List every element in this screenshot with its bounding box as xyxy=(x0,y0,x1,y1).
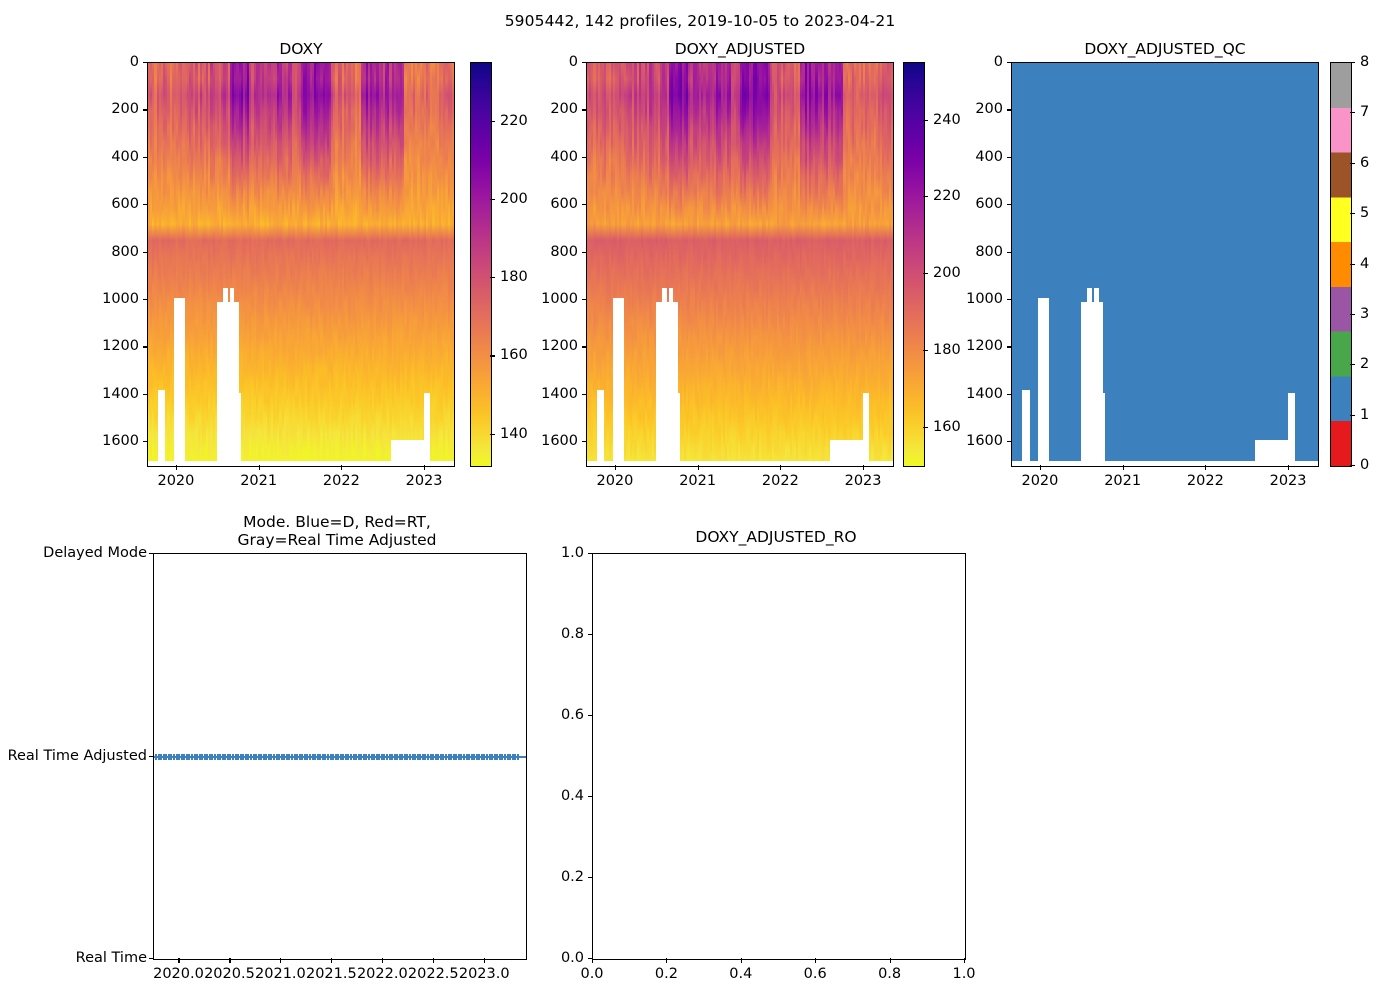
doxy-adjusted-ro-y-tick-label: 0.6 xyxy=(538,707,584,723)
doxy-adjusted-ro-x-tick-mark xyxy=(890,958,891,963)
mode-x-tick-label: 2020.0 xyxy=(153,966,204,982)
doxy-adjusted-y-tick-label: 800 xyxy=(532,244,578,260)
doxy-adjusted-qc-colorbar-tick-mark xyxy=(1350,163,1355,164)
doxy-adjusted-y-tick-mark xyxy=(582,252,587,253)
doxy-y-tick-label: 1600 xyxy=(93,433,139,449)
doxy-colorbar-tick-mark xyxy=(490,199,495,200)
doxy-adjusted-qc-colorbar-tick-mark xyxy=(1350,112,1355,113)
doxy-x-tick-label: 2020 xyxy=(157,473,194,489)
doxy-adjusted-ro-x-tick-label: 0.2 xyxy=(655,966,678,982)
doxy-adjusted-qc-x-tick-mark xyxy=(1288,465,1289,470)
doxy-adjusted-qc-y-tick-label: 800 xyxy=(957,244,1003,260)
doxy-adjusted-colorbar-tick-mark xyxy=(923,427,928,428)
doxy-adjusted-ro-y-tick-label: 0.8 xyxy=(538,626,584,642)
doxy-y-tick-mark xyxy=(143,252,148,253)
doxy-y-tick-mark xyxy=(143,204,148,205)
doxy-x-tick-label: 2022 xyxy=(323,473,360,489)
doxy-adjusted-ro-x-tick-label: 1.0 xyxy=(952,966,975,982)
mode-title-line-1: Mode. Blue=D, Red=RT, xyxy=(243,513,431,531)
doxy-y-tick-mark xyxy=(143,299,148,300)
doxy-adjusted-ro-y-tick-label: 0.4 xyxy=(538,788,584,804)
doxy-y-tick-mark xyxy=(143,346,148,347)
doxy-y-tick-mark xyxy=(143,109,148,110)
doxy-adjusted-qc-y-tick-mark xyxy=(1007,299,1012,300)
doxy-adjusted-qc-x-tick-label: 2020 xyxy=(1021,473,1058,489)
doxy-colorbar-tick-label: 180 xyxy=(500,269,548,285)
doxy-adjusted-qc-y-tick-label: 1200 xyxy=(957,338,1003,354)
mode-x-tick-mark xyxy=(178,958,179,963)
figure-canvas: 5905442, 142 profiles, 2019-10-05 to 202… xyxy=(0,0,1400,1000)
doxy-adjusted-qc-colorbar-tick-mark xyxy=(1350,465,1355,466)
doxy-adjusted-heatmap[interactable] xyxy=(586,62,894,467)
mode-x-tick-mark xyxy=(433,958,434,963)
doxy-adjusted-ro-y-tick-label: 0.0 xyxy=(538,950,584,966)
doxy-adjusted-qc-colorbar-tick-mark xyxy=(1350,364,1355,365)
missing-data-gap xyxy=(1046,298,1049,466)
doxy-adjusted-ro-plot[interactable] xyxy=(592,553,966,960)
doxy-adjusted-ro-y-tick-mark xyxy=(588,715,593,716)
doxy-x-tick-mark xyxy=(341,465,342,470)
doxy-adjusted-y-tick-label: 1400 xyxy=(532,386,578,402)
doxy-adjusted-qc-y-tick-mark xyxy=(1007,252,1012,253)
doxy-adjusted-qc-colorbar-tick-mark xyxy=(1350,314,1355,315)
doxy-adjusted-ro-panel-title: DOXY_ADJUSTED_RO xyxy=(586,528,966,546)
doxy-adjusted-qc-y-tick-label: 400 xyxy=(957,149,1003,165)
missing-data-gap xyxy=(1102,393,1105,467)
doxy-adjusted-qc-y-tick-label: 1000 xyxy=(957,291,1003,307)
doxy-adjusted-qc-y-tick-label: 0 xyxy=(957,54,1003,70)
doxy-adjusted-qc-colorbar-tick-label: 8 xyxy=(1360,54,1400,70)
doxy-adjusted-qc-colorbar-tick-label: 4 xyxy=(1360,256,1400,272)
doxy-y-tick-mark xyxy=(143,441,148,442)
doxy-adjusted-y-tick-label: 600 xyxy=(532,196,578,212)
doxy-colorbar-tick-mark xyxy=(490,277,495,278)
doxy-adjusted-ro-y-tick-label: 1.0 xyxy=(538,545,584,561)
doxy-adjusted-ro-y-tick-mark xyxy=(588,634,593,635)
doxy-adjusted-y-tick-mark xyxy=(582,441,587,442)
doxy-adjusted-y-tick-label: 1000 xyxy=(532,291,578,307)
doxy-adjusted-qc-x-tick-label: 2021 xyxy=(1104,473,1141,489)
doxy-adjusted-qc-colorbar-tick-mark xyxy=(1350,213,1355,214)
doxy-adjusted-ro-y-tick-mark xyxy=(588,877,593,878)
doxy-colorbar-tick-mark xyxy=(490,355,495,356)
mode-y-tick-label: Real Time xyxy=(0,950,147,966)
doxy-adjusted-qc-panel-title: DOXY_ADJUSTED_QC xyxy=(1011,40,1319,58)
doxy-x-tick-label: 2021 xyxy=(240,473,277,489)
doxy-adjusted-x-tick-label: 2021 xyxy=(679,473,716,489)
doxy-adjusted-y-tick-label: 400 xyxy=(532,149,578,165)
doxy-adjusted-x-tick-mark xyxy=(615,465,616,470)
doxy-y-tick-label: 200 xyxy=(93,101,139,117)
doxy-adjusted-qc-y-tick-mark xyxy=(1007,394,1012,395)
mode-x-tick-label: 2021.5 xyxy=(306,966,357,982)
missing-data-gap xyxy=(1316,461,1319,466)
doxy-adjusted-qc-heatmap[interactable] xyxy=(1011,62,1319,467)
missing-data-gap xyxy=(1292,393,1295,467)
heatmap-profile-column xyxy=(891,63,894,466)
doxy-adjusted-colorbar-tick-label: 200 xyxy=(933,265,981,281)
doxy-adjusted-y-tick-label: 1200 xyxy=(532,338,578,354)
doxy-adjusted-x-tick-label: 2023 xyxy=(845,473,882,489)
doxy-colorbar-tick-mark xyxy=(490,121,495,122)
doxy-adjusted-ro-x-tick-label: 0.8 xyxy=(878,966,901,982)
mode-x-tick-label: 2021.0 xyxy=(255,966,306,982)
doxy-adjusted-y-tick-mark xyxy=(582,394,587,395)
doxy-y-tick-label: 800 xyxy=(93,244,139,260)
doxy-adjusted-y-tick-mark xyxy=(582,62,587,63)
missing-data-gap xyxy=(452,461,455,466)
mode-x-tick-label: 2022.0 xyxy=(357,966,408,982)
doxy-adjusted-qc-y-tick-mark xyxy=(1007,62,1012,63)
mode-title-line-2: Gray=Real Time Adjusted xyxy=(237,531,436,549)
doxy-adjusted-qc-colorbar-tick-mark xyxy=(1350,415,1355,416)
doxy-y-tick-label: 400 xyxy=(93,149,139,165)
doxy-x-tick-label: 2023 xyxy=(406,473,443,489)
doxy-adjusted-y-tick-mark xyxy=(582,109,587,110)
mode-y-tick-mark xyxy=(149,958,154,959)
doxy-adjusted-qc-y-tick-label: 1600 xyxy=(957,433,1003,449)
doxy-adjusted-x-tick-mark xyxy=(780,465,781,470)
doxy-adjusted-qc-colorbar-tick-label: 6 xyxy=(1360,155,1400,171)
doxy-adjusted-ro-x-tick-mark xyxy=(815,958,816,963)
doxy-y-tick-label: 1400 xyxy=(93,386,139,402)
doxy-adjusted-qc-y-tick-mark xyxy=(1007,204,1012,205)
doxy-adjusted-qc-colorbar[interactable] xyxy=(1330,62,1352,467)
doxy-adjusted-ro-x-tick-mark xyxy=(741,958,742,963)
doxy-adjusted-colorbar[interactable] xyxy=(903,62,925,467)
doxy-y-tick-mark xyxy=(143,62,148,63)
doxy-adjusted-ro-y-tick-mark xyxy=(588,796,593,797)
doxy-adjusted-x-tick-mark xyxy=(698,465,699,470)
doxy-adjusted-y-tick-label: 0 xyxy=(532,54,578,70)
doxy-adjusted-ro-x-tick-mark xyxy=(666,958,667,963)
doxy-adjusted-y-tick-mark xyxy=(582,346,587,347)
missing-data-gap xyxy=(891,461,894,466)
doxy-adjusted-qc-x-tick-label: 2022 xyxy=(1187,473,1224,489)
doxy-y-tick-mark xyxy=(143,394,148,395)
doxy-panel-title: DOXY xyxy=(147,40,455,58)
doxy-adjusted-qc-colorbar-tick-mark xyxy=(1350,62,1355,63)
doxy-adjusted-qc-y-tick-mark xyxy=(1007,441,1012,442)
doxy-adjusted-x-tick-mark xyxy=(863,465,864,470)
doxy-heatmap[interactable] xyxy=(147,62,455,467)
mode-x-tick-label: 2022.5 xyxy=(408,966,459,982)
mode-x-tick-mark xyxy=(331,958,332,963)
doxy-adjusted-qc-x-tick-mark xyxy=(1040,465,1041,470)
doxy-adjusted-ro-y-tick-mark xyxy=(588,553,593,554)
mode-series-marker xyxy=(517,754,519,760)
doxy-adjusted-qc-y-tick-label: 200 xyxy=(957,101,1003,117)
doxy-adjusted-qc-colorbar-tick-label: 2 xyxy=(1360,356,1400,372)
doxy-x-tick-mark xyxy=(259,465,260,470)
doxy-colorbar-tick-mark xyxy=(490,434,495,435)
doxy-adjusted-qc-colorbar-tick-label: 3 xyxy=(1360,306,1400,322)
doxy-adjusted-colorbar-tick-mark xyxy=(923,273,928,274)
doxy-adjusted-qc-colorbar-tick-label: 5 xyxy=(1360,205,1400,221)
mode-y-tick-label: Delayed Mode xyxy=(0,545,147,561)
doxy-adjusted-qc-y-tick-label: 1400 xyxy=(957,386,1003,402)
doxy-y-tick-label: 600 xyxy=(93,196,139,212)
doxy-adjusted-x-tick-label: 2022 xyxy=(762,473,799,489)
doxy-y-tick-label: 1200 xyxy=(93,338,139,354)
doxy-adjusted-qc-x-tick-mark xyxy=(1205,465,1206,470)
doxy-adjusted-colorbar-tick-mark xyxy=(923,120,928,121)
doxy-adjusted-qc-colorbar-tick-mark xyxy=(1350,264,1355,265)
doxy-x-tick-mark xyxy=(176,465,177,470)
mode-x-tick-mark xyxy=(229,958,230,963)
mode-x-tick-mark xyxy=(280,958,281,963)
doxy-adjusted-qc-y-tick-mark xyxy=(1007,157,1012,158)
doxy-adjusted-colorbar-tick-mark xyxy=(923,196,928,197)
doxy-adjusted-qc-x-tick-label: 2023 xyxy=(1270,473,1307,489)
doxy-colorbar[interactable] xyxy=(470,62,492,467)
doxy-adjusted-y-tick-mark xyxy=(582,157,587,158)
doxy-y-tick-label: 1000 xyxy=(93,291,139,307)
mode-x-tick-mark xyxy=(484,958,485,963)
doxy-adjusted-qc-colorbar-tick-label: 1 xyxy=(1360,407,1400,423)
doxy-adjusted-colorbar-tick-label: 160 xyxy=(933,419,981,435)
mode-x-tick-mark xyxy=(382,958,383,963)
doxy-adjusted-x-tick-label: 2020 xyxy=(596,473,633,489)
mode-panel-title: Mode. Blue=D, Red=RT, Gray=Real Time Adj… xyxy=(147,513,527,550)
doxy-adjusted-qc-y-tick-mark xyxy=(1007,109,1012,110)
heatmap-profile-column xyxy=(452,63,455,466)
doxy-y-tick-label: 0 xyxy=(93,54,139,70)
doxy-adjusted-qc-colorbar-tick-label: 0 xyxy=(1360,457,1400,473)
doxy-adjusted-ro-y-tick-label: 0.2 xyxy=(538,869,584,885)
doxy-adjusted-y-tick-mark xyxy=(582,204,587,205)
doxy-adjusted-qc-y-tick-mark xyxy=(1007,346,1012,347)
doxy-adjusted-y-tick-label: 1600 xyxy=(532,433,578,449)
doxy-adjusted-y-tick-label: 200 xyxy=(532,101,578,117)
doxy-adjusted-ro-x-tick-label: 0.0 xyxy=(580,966,603,982)
doxy-adjusted-ro-x-tick-label: 0.4 xyxy=(729,966,752,982)
missing-data-gap xyxy=(1027,390,1030,466)
doxy-adjusted-ro-x-tick-mark xyxy=(592,958,593,963)
doxy-adjusted-qc-x-tick-mark xyxy=(1123,465,1124,470)
figure-suptitle: 5905442, 142 profiles, 2019-10-05 to 202… xyxy=(0,12,1400,30)
mode-y-tick-mark xyxy=(149,553,154,554)
mode-y-tick-label: Real Time Adjusted xyxy=(0,748,147,764)
mode-y-tick-mark xyxy=(149,756,154,757)
doxy-adjusted-ro-x-tick-label: 0.6 xyxy=(804,966,827,982)
doxy-adjusted-qc-colorbar-tick-label: 7 xyxy=(1360,104,1400,120)
doxy-adjusted-ro-x-tick-mark xyxy=(964,958,965,963)
doxy-x-tick-mark xyxy=(424,465,425,470)
doxy-adjusted-panel-title: DOXY_ADJUSTED xyxy=(586,40,894,58)
doxy-adjusted-y-tick-mark xyxy=(582,299,587,300)
mode-plot[interactable] xyxy=(153,553,527,960)
mode-x-tick-label: 2020.5 xyxy=(204,966,255,982)
doxy-y-tick-mark xyxy=(143,157,148,158)
doxy-adjusted-qc-y-tick-label: 600 xyxy=(957,196,1003,212)
doxy-adjusted-colorbar-tick-mark xyxy=(923,350,928,351)
mode-x-tick-label: 2023.0 xyxy=(459,966,510,982)
